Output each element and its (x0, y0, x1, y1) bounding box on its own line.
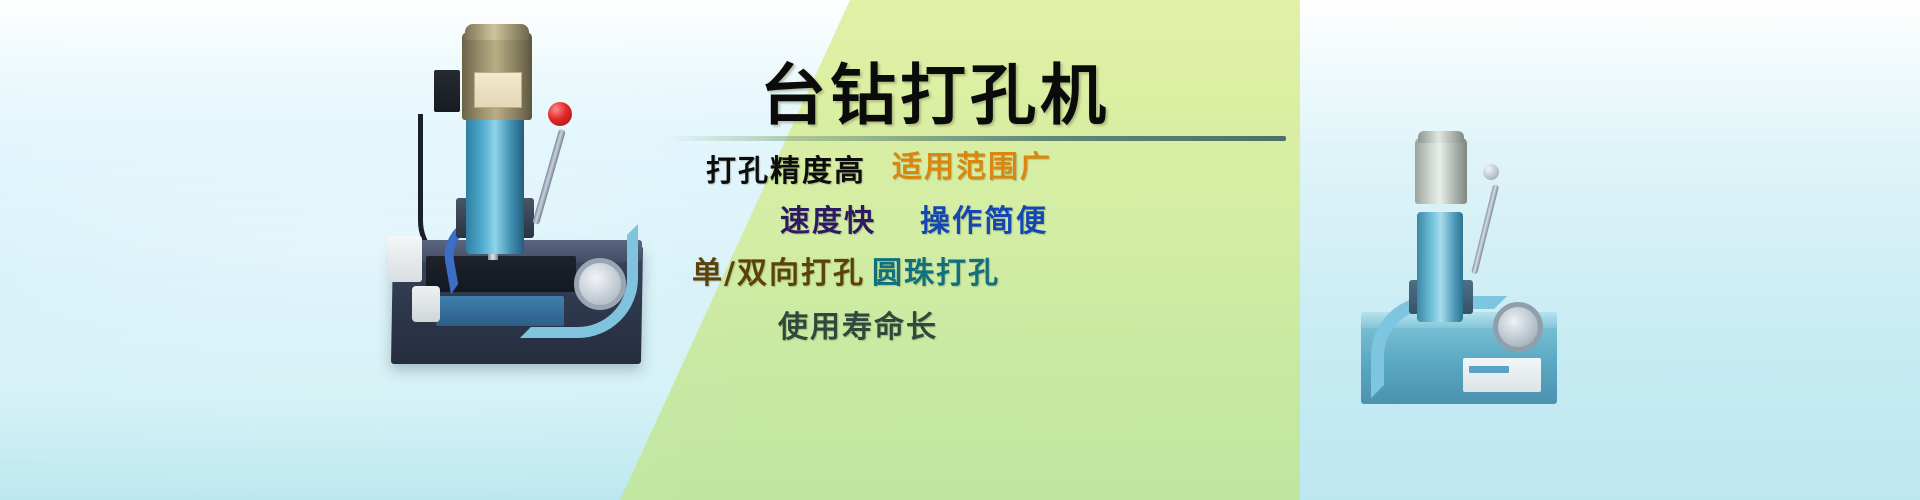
handwheel-right (1493, 302, 1543, 352)
machine-column (466, 114, 524, 254)
feature-bead-drilling: 圆珠打孔 (872, 248, 1000, 292)
junction-box (434, 70, 460, 112)
control-box-secondary (412, 286, 440, 322)
lever-knob-right (1483, 164, 1499, 180)
feature-fast-speed: 速度快 (780, 196, 876, 240)
feature-long-lifespan: 使用寿命长 (778, 302, 938, 346)
feed-lever-right (1471, 184, 1499, 275)
banner-title: 台钻打孔机 (760, 42, 1110, 138)
right-product-photo (1355, 120, 1585, 410)
handwheel (574, 258, 626, 310)
feature-drilling-precision: 打孔精度高 (706, 146, 866, 190)
info-card-bar (1469, 366, 1509, 373)
banner-text-block: 台钻打孔机 打孔精度高 适用范围广 速度快 操作简便 单/双向打孔 圆珠打孔 使… (620, 0, 1320, 500)
machine-column-right (1417, 212, 1463, 322)
product-banner: 台钻打孔机 打孔精度高 适用范围广 速度快 操作简便 单/双向打孔 圆珠打孔 使… (0, 0, 1920, 500)
motor-cap (465, 24, 529, 40)
left-product-photo (370, 18, 660, 378)
motor-cap-right (1418, 131, 1464, 143)
feature-wide-application: 适用范围广 (892, 142, 1052, 186)
control-box (388, 236, 422, 282)
feature-easy-operation: 操作简便 (920, 196, 1048, 240)
info-card (1463, 358, 1541, 392)
feature-single-double-drilling: 单/双向打孔 (692, 248, 865, 292)
title-divider (666, 136, 1286, 141)
lever-knob (548, 102, 572, 126)
feed-lever (532, 129, 566, 225)
motor-nameplate (474, 72, 522, 108)
motor-housing-right (1415, 138, 1467, 204)
